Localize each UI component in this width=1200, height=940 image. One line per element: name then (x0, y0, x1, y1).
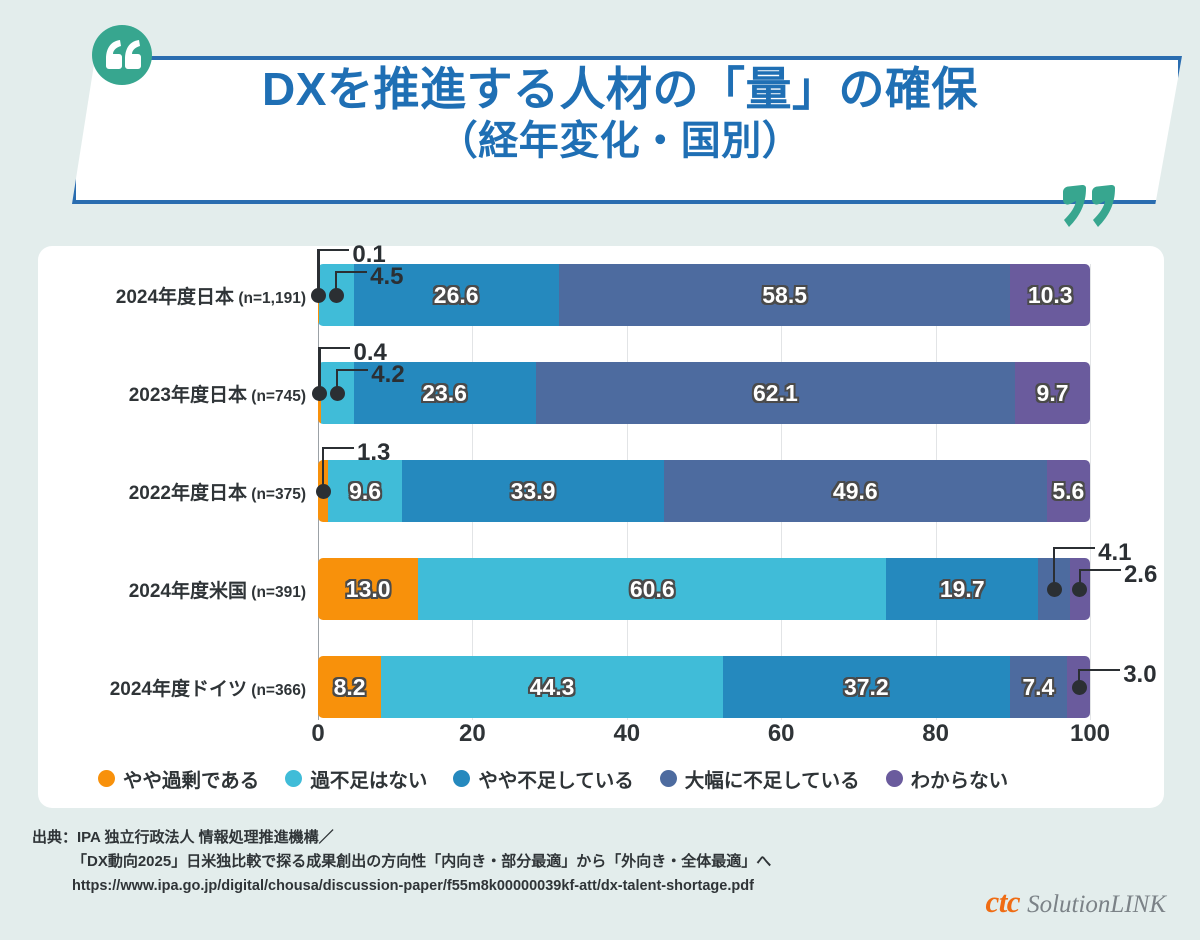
page-title-line1: DXを推進する人材の「量」の確保 (110, 62, 1130, 116)
bar-segment[interactable]: 26.6 (354, 264, 559, 326)
chart-card: 26.658.510.323.662.19.79.633.949.65.613.… (38, 246, 1164, 808)
x-axis-tick-label: 0 (311, 720, 324, 748)
stacked-bar[interactable]: 13.060.619.7 (318, 558, 1090, 620)
legend-item[interactable]: 大幅に不足している (660, 764, 860, 793)
callout-value: 4.1 (1098, 539, 1131, 567)
bar-segment-value: 9.7 (1037, 380, 1069, 407)
legend-label: やや過剰である (123, 764, 259, 793)
chart-row-label: 2022年度日本 (n=375) (38, 478, 306, 505)
bar-segment[interactable] (1038, 558, 1070, 620)
footer: 出典：IPA 独立行政法人 情報処理推進機構／ 「DX動向2025」日米独比較で… (32, 826, 1172, 926)
bar-segment[interactable] (318, 460, 328, 522)
callout-value: 2.6 (1124, 561, 1157, 589)
x-axis-tick-label: 80 (922, 720, 949, 748)
bar-segment[interactable]: 13.0 (318, 558, 418, 620)
legend-label: 大幅に不足している (685, 764, 860, 793)
bar-segment-value: 44.3 (530, 674, 575, 701)
bar-segment-value: 49.6 (833, 478, 878, 505)
chart-plot-area: 26.658.510.323.662.19.79.633.949.65.613.… (318, 264, 1090, 720)
page-title: DXを推進する人材の「量」の確保 （経年変化・国別） (110, 62, 1130, 165)
bar-segment-value: 23.6 (422, 380, 467, 407)
bar-segment[interactable]: 49.6 (664, 460, 1047, 522)
logo-ctc-text: ctc (985, 884, 1020, 920)
quote-close-icon (1062, 184, 1120, 239)
bar-segment-value: 58.5 (762, 282, 807, 309)
bar-segment[interactable]: 10.3 (1010, 264, 1090, 326)
legend-swatch-circle-icon (453, 770, 470, 787)
legend-swatch-circle-icon (660, 770, 677, 787)
chart-legend: やや過剰である過不足はないやや不足している大幅に不足しているわからない (60, 758, 1150, 798)
callout-leader-line (317, 249, 349, 251)
row-label-sample-size: (n=366) (247, 682, 306, 699)
row-label-period: 2023年度日本 (129, 385, 247, 406)
bar-segment[interactable]: 5.6 (1047, 460, 1090, 522)
legend-label: やや不足している (478, 764, 633, 793)
bar-segment-value: 33.9 (511, 478, 556, 505)
row-label-period: 2024年度日本 (116, 287, 234, 308)
legend-item[interactable]: やや不足している (453, 764, 633, 793)
logo-solutionlink-text: SolutionLINK (1027, 891, 1166, 919)
legend-swatch-circle-icon (98, 770, 115, 787)
bar-segment[interactable]: 19.7 (886, 558, 1038, 620)
legend-swatch-circle-icon (285, 770, 302, 787)
bar-segment[interactable]: 9.7 (1015, 362, 1090, 424)
stacked-bar[interactable]: 9.633.949.65.6 (318, 460, 1090, 522)
bar-segment-value: 26.6 (434, 282, 479, 309)
stacked-bar[interactable]: 8.244.337.27.4 (318, 656, 1090, 718)
bar-segment-value: 8.2 (334, 674, 366, 701)
chart-bar-row: 9.633.949.65.6 (318, 460, 1090, 522)
chart-bar-row: 26.658.510.3 (318, 264, 1090, 326)
legend-swatch-circle-icon (886, 770, 903, 787)
row-label-period: 2024年度ドイツ (110, 679, 247, 700)
x-axis-tick-label: 60 (768, 720, 795, 748)
chart-row-label: 2024年度日本 (n=1,191) (38, 282, 306, 309)
bar-segment[interactable] (1067, 656, 1090, 718)
chart-row-label: 2024年度ドイツ (n=366) (38, 674, 306, 701)
bar-segment-value: 5.6 (1052, 478, 1084, 505)
bar-segment-value: 62.1 (753, 380, 798, 407)
source-line-2: 「DX動向2025」日米独比較で探る成果創出の方向性「内向き・部分最適」から「外… (32, 850, 1172, 874)
x-axis-tick-label: 40 (613, 720, 640, 748)
callout-value: 3.0 (1123, 661, 1156, 689)
x-axis-tick-label: 100 (1070, 720, 1110, 748)
bar-segment[interactable]: 7.4 (1010, 656, 1067, 718)
row-label-sample-size: (n=745) (247, 388, 306, 405)
bar-segment[interactable]: 9.6 (328, 460, 402, 522)
bar-segment-value: 60.6 (630, 576, 675, 603)
row-label-sample-size: (n=1,191) (234, 290, 306, 307)
bar-segment[interactable]: 8.2 (318, 656, 381, 718)
chart-bar-row: 8.244.337.27.4 (318, 656, 1090, 718)
chart-row-label: 2024年度米国 (n=391) (38, 576, 306, 603)
bar-segment[interactable]: 37.2 (723, 656, 1010, 718)
bar-segment-value: 37.2 (844, 674, 889, 701)
gridline (1090, 264, 1091, 720)
chart-bar-row: 13.060.619.7 (318, 558, 1090, 620)
bar-segment[interactable]: 58.5 (559, 264, 1011, 326)
bar-segment[interactable] (319, 264, 354, 326)
legend-item[interactable]: わからない (886, 764, 1009, 793)
header: DXを推進する人材の「量」の確保 （経年変化・国別） (0, 0, 1200, 238)
quote-open-icon (92, 25, 152, 85)
stacked-bar[interactable]: 23.662.19.7 (318, 362, 1090, 424)
bar-segment-value: 19.7 (940, 576, 985, 603)
bar-segment[interactable] (321, 362, 353, 424)
bar-segment-value: 7.4 (1022, 674, 1054, 701)
bar-segment-value: 10.3 (1028, 282, 1073, 309)
bar-segment[interactable]: 23.6 (354, 362, 536, 424)
bar-segment[interactable]: 33.9 (402, 460, 664, 522)
ctc-solutionlink-logo: ctc SolutionLINK (985, 884, 1166, 920)
bar-segment-value: 9.6 (349, 478, 381, 505)
bar-segment[interactable]: 44.3 (381, 656, 723, 718)
legend-item[interactable]: 過不足はない (285, 764, 427, 793)
legend-label: わからない (911, 764, 1009, 793)
bar-segment-value: 13.0 (346, 576, 391, 603)
chart-bar-row: 23.662.19.7 (318, 362, 1090, 424)
legend-label: 過不足はない (310, 764, 427, 793)
bar-segment[interactable]: 62.1 (536, 362, 1015, 424)
bar-segment[interactable]: 60.6 (418, 558, 886, 620)
row-label-period: 2022年度日本 (129, 483, 247, 504)
source-line-1: 出典：IPA 独立行政法人 情報処理推進機構／ (32, 826, 1172, 850)
x-axis-tick-label: 20 (459, 720, 486, 748)
chart-x-axis: 020406080100 (318, 720, 1090, 754)
row-label-sample-size: (n=375) (247, 486, 306, 503)
stacked-bar[interactable]: 26.658.510.3 (318, 264, 1090, 326)
row-label-sample-size: (n=391) (247, 584, 306, 601)
legend-item[interactable]: やや過剰である (98, 764, 259, 793)
bar-segment[interactable] (1070, 558, 1090, 620)
chart-row-label: 2023年度日本 (n=745) (38, 380, 306, 407)
page-title-line2: （経年変化・国別） (110, 118, 1130, 165)
row-label-period: 2024年度米国 (129, 581, 247, 602)
